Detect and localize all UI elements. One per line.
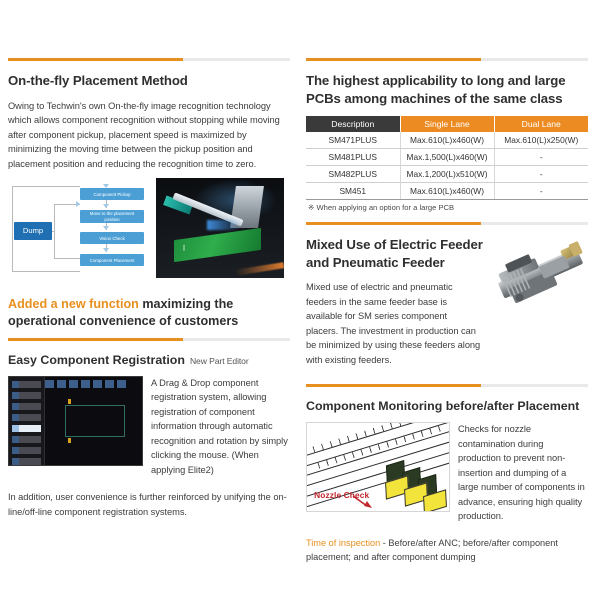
two-column-layout: On-the-fly Placement Method Owing to Tec… (8, 58, 588, 564)
nozzle-check-illustration: Nozzle Check (306, 422, 450, 512)
cell-model: SM471PLUS (306, 132, 400, 149)
editor-part-leads-bottom (68, 438, 121, 443)
heading-mixed-feeder: Mixed Use of Electric Feeder and Pneumat… (306, 236, 492, 271)
editor-sidebar-item (12, 403, 41, 410)
cell-dual-lane: - (494, 149, 588, 166)
editor-sidebar (9, 377, 45, 465)
feeder-illustration (482, 232, 594, 318)
flow-box-component-placement: Component Placement (80, 254, 144, 266)
section-rule-feeder (306, 222, 588, 225)
flow-box-vision-check: Vision Check (80, 232, 144, 244)
editor-sidebar-item (12, 447, 41, 454)
registration-media-row: A Drag & Drop component registration sys… (8, 376, 290, 485)
left-column: On-the-fly Placement Method Owing to Tec… (8, 58, 290, 526)
heading-easy-component-registration: Easy Component RegistrationNew Part Edit… (8, 352, 290, 368)
cell-dual-lane: - (494, 166, 588, 183)
cell-single-lane: Max.610(L)x460(W) (400, 132, 494, 149)
cell-single-lane: Max.1,200(L)x510(W) (400, 166, 494, 183)
pcb-spec-table: Description Single Lane Dual Lane SM471P… (306, 116, 588, 200)
right-column: The highest applicability to long and la… (306, 58, 588, 564)
flow-box-component-pickup: Component Pickup (80, 188, 144, 200)
flow-arrow-1 (103, 204, 109, 208)
onfly-placement-photo (156, 178, 284, 278)
photo-pcb (174, 228, 261, 262)
cell-model: SM481PLUS (306, 149, 400, 166)
heading-registration-tag: New Part Editor (190, 356, 249, 366)
registration-side-text: A Drag & Drop component registration sys… (151, 376, 290, 485)
flow-arrow-dump-in (76, 201, 80, 207)
monitoring-media-row: Nozzle Check Checks for nozzle contamina… (306, 422, 588, 531)
spacer (306, 212, 588, 222)
heading-pcb-applicability: The highest applicability to long and la… (306, 72, 588, 107)
banner-highlight: Added a new function (8, 297, 139, 311)
inspection-time-lead: Time of inspection (306, 538, 380, 548)
monitoring-side-text: Checks for nozzle contamination during p… (458, 422, 588, 531)
flow-line-outer-bottom (12, 271, 80, 272)
flow-line-dump-bottom (54, 258, 80, 259)
table-row: SM481PLUS Max.1,500(L)x460(W) - (306, 149, 588, 166)
pcb-spec-table-head: Description Single Lane Dual Lane (306, 116, 588, 132)
flow-arrow-2 (103, 226, 109, 230)
flow-box-move-to-placement: Move to the placement position (80, 210, 144, 223)
spacer (306, 374, 588, 384)
banner-added-new-function: Added a new function maximizing the oper… (8, 296, 290, 330)
inspection-time-line: Time of inspection - Before/after ANC; b… (306, 537, 588, 565)
editor-sidebar-item (12, 458, 41, 465)
editor-sidebar-item-selected (12, 425, 41, 432)
flow-arrow-3 (103, 248, 109, 252)
editor-sidebar-item (12, 436, 41, 443)
editor-sidebar-item (12, 381, 41, 388)
section-rule-onfly (8, 58, 290, 61)
heading-registration-text: Easy Component Registration (8, 353, 185, 367)
table-header-row: Description Single Lane Dual Lane (306, 116, 588, 132)
editor-part-body (65, 405, 126, 437)
pcb-table-footnote: ※ When applying an option for a large PC… (308, 203, 588, 212)
cell-single-lane: Max.1,500(L)x460(W) (400, 149, 494, 166)
pcb-spec-table-body: SM471PLUS Max.610(L)x460(W) Max.610(L)x2… (306, 132, 588, 200)
body-mixed-feeder: Mixed use of electric and pneumatic feed… (306, 280, 481, 367)
editor-part-leads-top (68, 399, 121, 404)
section-rule-registration (8, 338, 290, 341)
th-single-lane: Single Lane (400, 116, 494, 132)
cell-single-lane: Max.610(L)x460(W) (400, 183, 494, 200)
placement-flow-diagram: Dump Component Pickup Move to the placem… (8, 178, 150, 278)
cell-dual-lane: - (494, 183, 588, 200)
cell-model: SM482PLUS (306, 166, 400, 183)
editor-toolbar (45, 380, 138, 388)
heading-component-monitoring: Component Monitoring before/after Placem… (306, 398, 588, 414)
body-registration-side: A Drag & Drop component registration sys… (151, 376, 290, 478)
th-description: Description (306, 116, 400, 132)
flow-line-outer-top (12, 186, 80, 187)
feeder-section: Mixed Use of Electric Feeder and Pneumat… (306, 236, 588, 367)
section-rule-monitoring (306, 384, 588, 387)
feeder-body-group (492, 234, 590, 307)
photo-light-streak (235, 262, 284, 276)
section-rule-pcb (306, 58, 588, 61)
brochure-page: On-the-fly Placement Method Owing to Tec… (0, 0, 600, 600)
body-registration-below: In addition, user convenience is further… (8, 490, 290, 519)
table-row: SM482PLUS Max.1,200(L)x510(W) - (306, 166, 588, 183)
editor-sidebar-item (12, 392, 41, 399)
new-part-editor-screenshot (8, 376, 143, 466)
heading-onfly-placement: On-the-fly Placement Method (8, 72, 290, 90)
table-row: SM451 Max.610(L)x460(W) - (306, 183, 588, 200)
editor-sidebar-item (12, 414, 41, 421)
th-dual-lane: Dual Lane (494, 116, 588, 132)
body-onfly-placement: Owing to Techwin's own On-the-fly image … (8, 99, 290, 172)
photo-vision-beam (207, 220, 240, 230)
flow-line-outer-left (12, 186, 13, 272)
onfly-media-row: Dump Component Pickup Move to the placem… (8, 178, 290, 278)
cell-model: SM451 (306, 183, 400, 200)
body-component-monitoring: Checks for nozzle contamination during p… (458, 422, 588, 524)
table-row: SM471PLUS Max.610(L)x460(W) Max.610(L)x2… (306, 132, 588, 149)
nozzle-check-arrow-icon (352, 495, 372, 508)
cell-dual-lane: Max.610(L)x250(W) (494, 132, 588, 149)
flow-box-dump: Dump (14, 222, 52, 240)
